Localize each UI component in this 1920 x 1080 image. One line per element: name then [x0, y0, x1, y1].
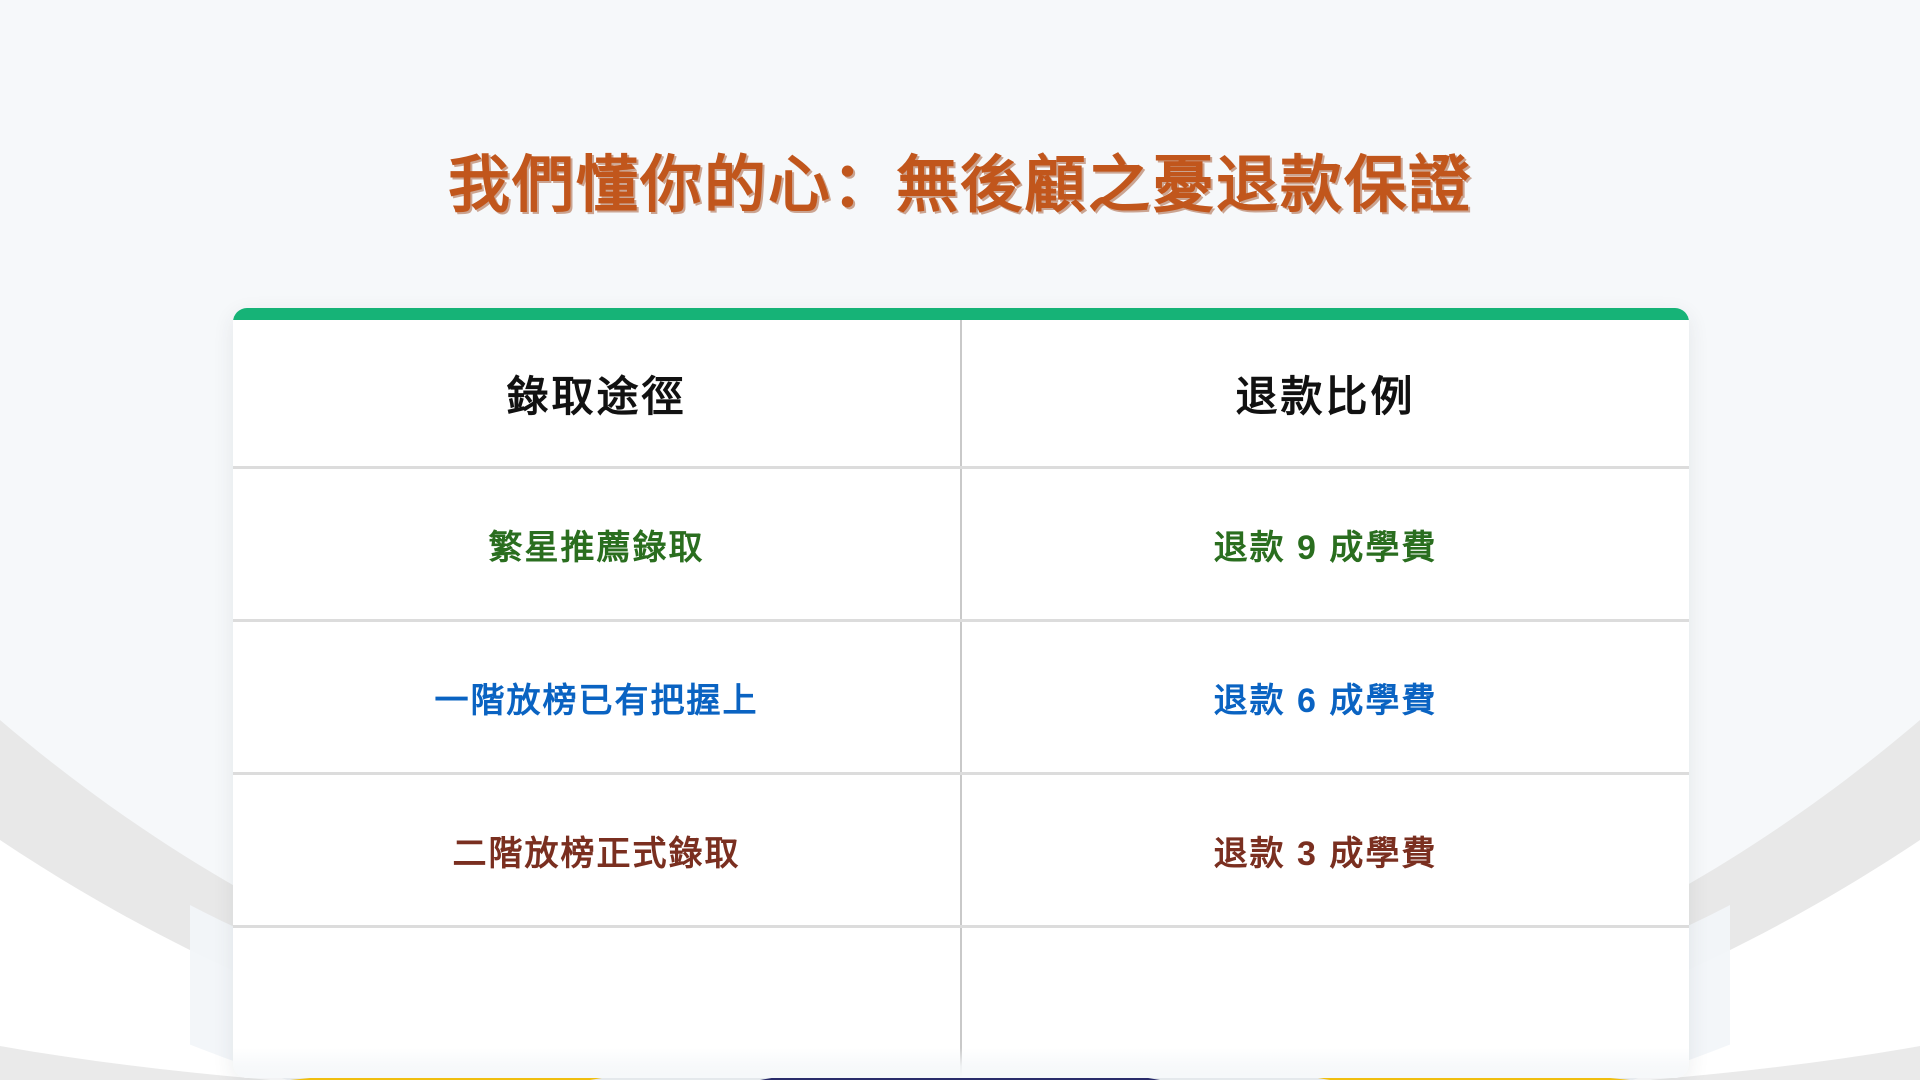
page-title: 我們懂你的心：無後顧之憂退款保證 — [448, 150, 1472, 219]
cell-refund-3: 退款 3 成學費 — [961, 774, 1689, 927]
card-bottom-spacer-right — [961, 927, 1689, 1079]
cell-refund-2: 退款 6 成學費 — [961, 621, 1689, 774]
table-header-row: 錄取途徑 退款比例 — [233, 320, 1689, 468]
refund-table-card: 錄取途徑 退款比例 繁星推薦錄取 退款 9 成學費 一階放榜已有把握上 退款 6… — [233, 308, 1689, 1078]
table-head: 錄取途徑 退款比例 — [233, 320, 1689, 468]
cell-route-2: 一階放榜已有把握上 — [233, 621, 961, 774]
table-row: 二階放榜正式錄取 退款 3 成學費 — [233, 774, 1689, 927]
title-block: 我們懂你的心：無後顧之憂退款保證 — [0, 108, 1920, 261]
card-bottom-spacer-left — [233, 927, 961, 1079]
refund-table: 錄取途徑 退款比例 繁星推薦錄取 退款 9 成學費 一階放榜已有把握上 退款 6… — [233, 320, 1689, 1078]
decor-corner-shade-left — [0, 1046, 270, 1080]
table-row: 一階放榜已有把握上 退款 6 成學費 — [233, 621, 1689, 774]
cell-route-1: 繁星推薦錄取 — [233, 468, 961, 621]
column-header-refund: 退款比例 — [961, 320, 1689, 468]
slide-canvas: 我們懂你的心：無後顧之憂退款保證 錄取途徑 退款比例 繁星推薦錄取 退款 9 成… — [0, 0, 1920, 1080]
table-body: 繁星推薦錄取 退款 9 成學費 一階放榜已有把握上 退款 6 成學費 二階放榜正… — [233, 468, 1689, 1079]
table-row-spacer — [233, 927, 1689, 1079]
card-accent-bar — [233, 308, 1689, 320]
decor-corner-shade-right — [1650, 1046, 1920, 1080]
column-header-route: 錄取途徑 — [233, 320, 961, 468]
table-row: 繁星推薦錄取 退款 9 成學費 — [233, 468, 1689, 621]
cell-refund-1: 退款 9 成學費 — [961, 468, 1689, 621]
cell-route-3: 二階放榜正式錄取 — [233, 774, 961, 927]
